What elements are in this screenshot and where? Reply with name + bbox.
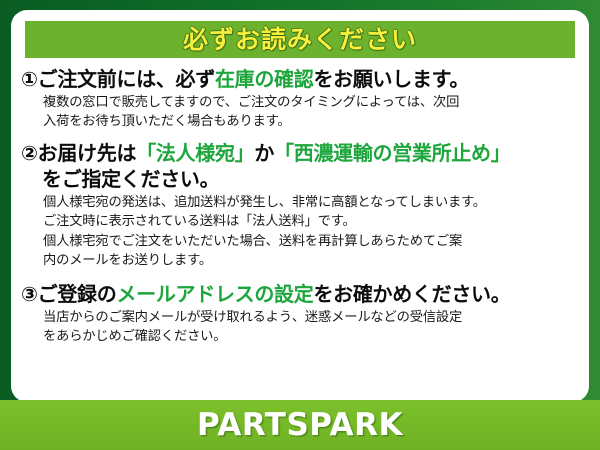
notice-item-1: ①ご注文前には、必ず在庫の確認をお願いします。 複数の窓口で販売してますので、ご…	[21, 66, 581, 131]
notice-item-1-description-line-2: 入荷をお待ち頂いただく場合もあります。	[43, 112, 581, 131]
notice-item-2-marker: ②	[21, 141, 38, 165]
notice-item-3-description-line-2: をあらかじめご確認ください。	[43, 327, 581, 346]
notice-item-2: ②お届け先は「法人様宛」か「西濃運輸の営業所止め」 をご指定ください。 個人様宅…	[21, 140, 581, 270]
page-title: 必ずお読みください	[183, 27, 417, 52]
notice-item-3-description: 当店からのご案内メールが受け取れるよう、迷惑メールなどの受信設定 をあらかじめご…	[21, 308, 581, 346]
notice-item-1-heading-highlight: 在庫の確認	[215, 67, 314, 91]
white-content-panel: 必ずお読みください ①ご注文前には、必ず在庫の確認をお願いします。 複数の窓口で…	[11, 10, 589, 402]
footer-band: PARTSPARK	[0, 400, 600, 450]
header-banner: 必ずお読みください	[25, 21, 575, 58]
notice-item-2-heading: ②お届け先は「法人様宛」か「西濃運輸の営業所止め」	[21, 140, 581, 166]
notice-item-2-description-line-1: 個人様宅宛の発送は、追加送料が発生し、非常に高額となってしまいます。	[43, 193, 581, 212]
notice-item-1-heading: ①ご注文前には、必ず在庫の確認をお願いします。	[21, 66, 581, 92]
notice-item-3-heading: ③ご登録のメールアドレスの設定をお確かめください。	[21, 281, 581, 307]
notice-item-1-description-line-1: 複数の窓口で販売してますので、ご注文のタイミングによっては、次回	[43, 93, 581, 112]
notice-item-3-heading-highlight: メールアドレスの設定	[116, 282, 313, 306]
notice-item-1-heading-part-1: ご注文前には、必ず	[38, 67, 215, 91]
notice-item-3-description-line-1: 当店からのご案内メールが受け取れるよう、迷惑メールなどの受信設定	[43, 308, 581, 327]
notice-item-1-marker: ①	[21, 67, 38, 91]
notice-item-1-description: 複数の窓口で販売してますので、ご注文のタイミングによっては、次回 入荷をお待ち頂…	[21, 93, 581, 131]
notice-list: ①ご注文前には、必ず在庫の確認をお願いします。 複数の窓口で販売してますので、ご…	[11, 66, 589, 350]
notice-item-3: ③ご登録のメールアドレスの設定をお確かめください。 当店からのご案内メールが受け…	[21, 281, 581, 346]
notice-item-2-description-line-3: 個人様宅宛でご注文をいただいた場合、送料を再計算しあらためてご案	[43, 232, 581, 251]
notice-item-2-description: 個人様宅宛の発送は、追加送料が発生し、非常に高額となってしまいます。 ご注文時に…	[21, 193, 581, 270]
notice-item-1-heading-part-3: をお願いします。	[313, 67, 469, 91]
notice-card: 必ずお読みください ①ご注文前には、必ず在庫の確認をお願いします。 複数の窓口で…	[0, 0, 600, 450]
notice-item-2-heading-line-2: をご指定ください。	[21, 166, 581, 192]
notice-item-2-heading-part-1: お届け先は	[38, 141, 137, 165]
notice-item-2-heading-part-3: か	[254, 141, 274, 165]
notice-item-2-description-line-4: 内のメールをお送りします。	[43, 251, 581, 270]
notice-item-3-heading-part-1: ご登録の	[38, 282, 117, 306]
brand-logo: PARTSPARK	[197, 410, 403, 441]
notice-item-2-heading-highlight-1: 「法人様宛」	[136, 141, 254, 165]
notice-item-3-heading-part-3: をお確かめください。	[313, 282, 510, 306]
notice-item-2-heading-highlight-2: 「西濃運輸の営業所止め」	[274, 141, 510, 165]
notice-item-2-description-line-2: ご注文時に表示されている送料は「法人送料」です。	[43, 212, 581, 231]
notice-item-3-marker: ③	[21, 282, 38, 306]
